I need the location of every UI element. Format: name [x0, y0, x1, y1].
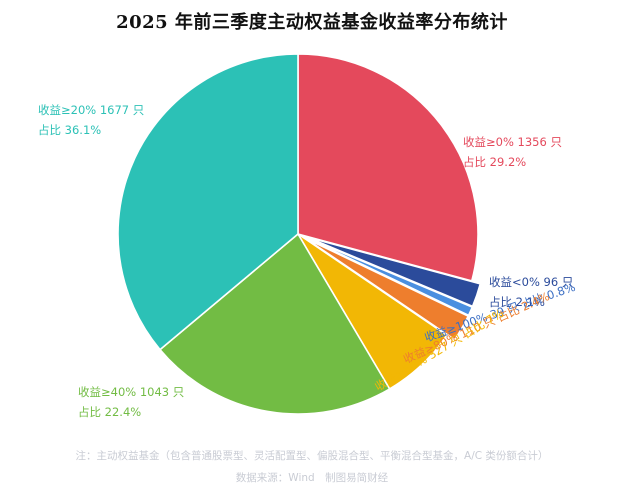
footnote-source: 数据来源：Wind 制图易简财经 [0, 470, 624, 485]
pie-label-line2: 占比 36.1% [38, 120, 144, 140]
pie-label-line1: 收益≥40% 1043 只 [78, 385, 184, 399]
pie-label-line2: 占比 22.4% [78, 402, 184, 422]
pie-label-line2: 占比 29.2% [463, 152, 562, 172]
pie-label-income-ge-40: 收益≥40% 1043 只 占比 22.4% [78, 382, 184, 422]
pie-label-income-ge-0: 收益≥0% 1356 只 占比 29.2% [463, 132, 562, 172]
pie-label-income-ge-20: 收益≥20% 1677 只 占比 36.1% [38, 100, 144, 140]
pie-label-line1: 收益≥20% 1677 只 [38, 103, 144, 117]
chart-container: 2025 年前三季度主动权益基金收益率分布统计 收益≥20% 1677 只 占比… [0, 0, 624, 501]
footnote-note: 注：主动权益基金（包含普通股票型、灵活配置型、偏股混合型、平衡混合型基金，A/C… [0, 448, 624, 463]
pie-chart-svg [0, 0, 624, 501]
pie-label-line1: 收益≥0% 1356 只 [463, 135, 562, 149]
